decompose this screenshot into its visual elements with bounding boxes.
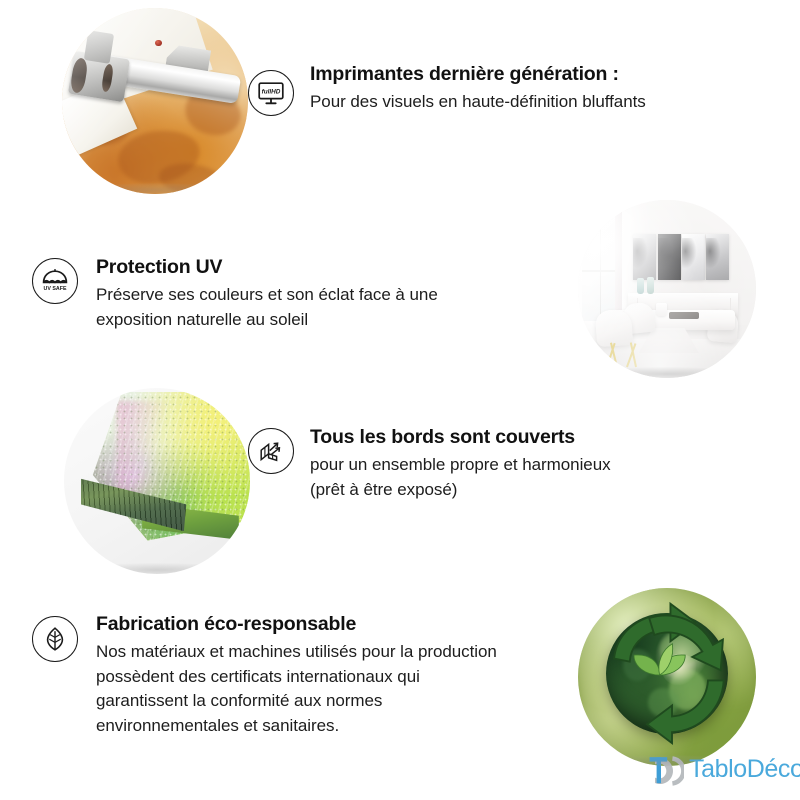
feature-body-covered-edges: pour un ensemble propre et harmonieux (p…	[310, 453, 611, 502]
photo-printer-world-map	[62, 8, 248, 194]
photo-colorful-canvas-corner	[64, 388, 250, 574]
monitor-fullhd-icon: fullHD	[248, 70, 294, 116]
feature-body-printers: Pour des visuels en haute-définition blu…	[310, 90, 646, 115]
feature-title-uv-protection: Protection UV	[96, 255, 438, 279]
tablodeco-logo-mark	[648, 752, 684, 786]
body-line: possèdent des certificats internationaux…	[96, 665, 497, 690]
photo-eco-globe-recycling	[578, 588, 756, 766]
tablodeco-logo[interactable]: TabloDéco ™ fr	[648, 752, 800, 786]
feature-title-printers: Imprimantes dernière génération :	[310, 62, 646, 86]
feature-eco-manufacturing: Fabrication éco-responsable Nos matériau…	[32, 612, 592, 762]
feature-title-covered-edges: Tous les bords sont couverts	[310, 425, 611, 449]
body-line: garantissent la conformité aux normes	[96, 689, 497, 714]
body-line: Nos matériaux et machines utilisés pour …	[96, 640, 497, 665]
logo-word-text: TabloDéco	[689, 755, 800, 783]
feature-covered-edges: Tous les bords sont couverts pour un ens…	[248, 425, 698, 515]
feature-uv-protection: UV SAFE Protection UV Préserve ses coule…	[32, 255, 512, 345]
leaf-sprout-icon	[624, 638, 695, 681]
feature-printers: fullHD Imprimantes dernière génération :…	[248, 62, 718, 132]
feature-body-eco-manufacturing: Nos matériaux et machines utilisés pour …	[96, 640, 497, 738]
body-line: Préserve ses couleurs et son éclat face …	[96, 283, 438, 308]
infographic-page: fullHD Imprimantes dernière génération :…	[0, 0, 800, 800]
photo-bright-dining-room	[578, 200, 756, 378]
leaf-eco-icon	[32, 616, 78, 662]
body-line: environnementales et sanitaires.	[96, 714, 497, 739]
feature-title-eco-manufacturing: Fabrication éco-responsable	[96, 612, 497, 636]
umbrella-uv-safe-label: UV SAFE	[44, 286, 67, 292]
body-line: Pour des visuels en haute-définition blu…	[310, 90, 646, 115]
body-line: exposition naturelle au soleil	[96, 308, 438, 333]
wrapped-canvas-edge-icon	[248, 428, 294, 474]
tablodeco-logo-wordmark: TabloDéco ™ fr	[689, 755, 800, 784]
umbrella-uv-safe-icon: UV SAFE	[32, 258, 78, 304]
body-line: pour un ensemble propre et harmonieux	[310, 453, 611, 478]
monitor-fullhd-label: fullHD	[262, 88, 281, 95]
body-line: (prêt à être exposé)	[310, 478, 611, 503]
feature-body-uv-protection: Préserve ses couleurs et son éclat face …	[96, 283, 438, 332]
